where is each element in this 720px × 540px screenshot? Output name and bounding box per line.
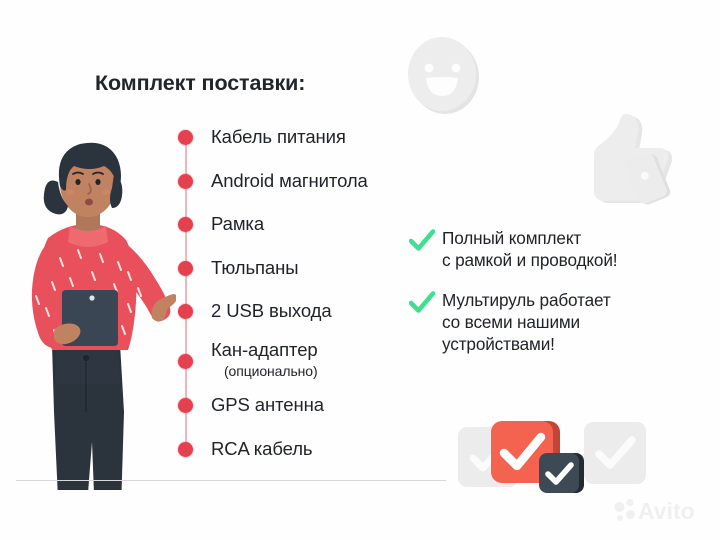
bullet-dot xyxy=(178,354,193,369)
checkbox-card-dark xyxy=(539,453,579,493)
check-icon xyxy=(409,291,435,315)
list-item: RCA кабель xyxy=(178,440,448,459)
avito-watermark: Avito xyxy=(612,494,712,526)
list-item-label: RCA кабель xyxy=(211,440,312,459)
check-icon xyxy=(409,229,435,253)
ground-line xyxy=(16,480,446,481)
list-item: 2 USB выхода xyxy=(178,302,448,321)
list-item-label: Тюльпаны xyxy=(211,259,298,278)
list-item: Тюльпаны xyxy=(178,259,448,278)
list-item: Кабель питания xyxy=(178,128,448,147)
list-item-label: 2 USB выхода xyxy=(211,302,332,321)
bullet-dot xyxy=(178,304,193,319)
checkbox-card-gray-right xyxy=(584,422,646,484)
illustration-woman-pointing xyxy=(8,112,176,490)
benefit-label: Полный комплект с рамкой и проводкой! xyxy=(442,228,617,271)
benefit-item: Мультируль работает со всеми нашими устр… xyxy=(409,290,709,355)
page-title: Комплект поставки: xyxy=(95,71,305,96)
checkbox-card-cluster xyxy=(458,408,643,494)
benefit-item: Полный комплект с рамкой и проводкой! xyxy=(409,228,709,271)
list-item-sublabel: (опционально) xyxy=(224,364,448,378)
list-item: GPS антенна xyxy=(178,396,448,415)
benefit-label: Мультируль работает со всеми нашими устр… xyxy=(442,290,611,355)
smiley-face-icon xyxy=(406,34,480,116)
list-item-label: Android магнитола xyxy=(211,172,368,191)
bullet-dot xyxy=(178,217,193,232)
list-item-label: Рамка xyxy=(211,215,264,234)
list-item: Android магнитола xyxy=(178,172,448,191)
watermark-label: Avito xyxy=(638,498,695,524)
list-item-label: Кабель питания xyxy=(211,128,346,147)
list-item-label: GPS антенна xyxy=(211,396,324,415)
bullet-dot xyxy=(178,130,193,145)
promo-banner: Комплект поставки: Кабель питания Androi… xyxy=(0,0,720,540)
list-item: Кан-адаптер (опционально) xyxy=(178,341,448,379)
list-item: Рамка xyxy=(178,215,448,234)
bullet-dot xyxy=(178,442,193,457)
package-contents-list: Кабель питания Android магнитола Рамка Т… xyxy=(178,128,448,458)
bullet-dot xyxy=(178,398,193,413)
benefits-list: Полный комплект с рамкой и проводкой! Му… xyxy=(409,228,709,355)
thumbs-up-icon xyxy=(578,112,682,212)
bullet-dot xyxy=(178,261,193,276)
bullet-dot xyxy=(178,174,193,189)
